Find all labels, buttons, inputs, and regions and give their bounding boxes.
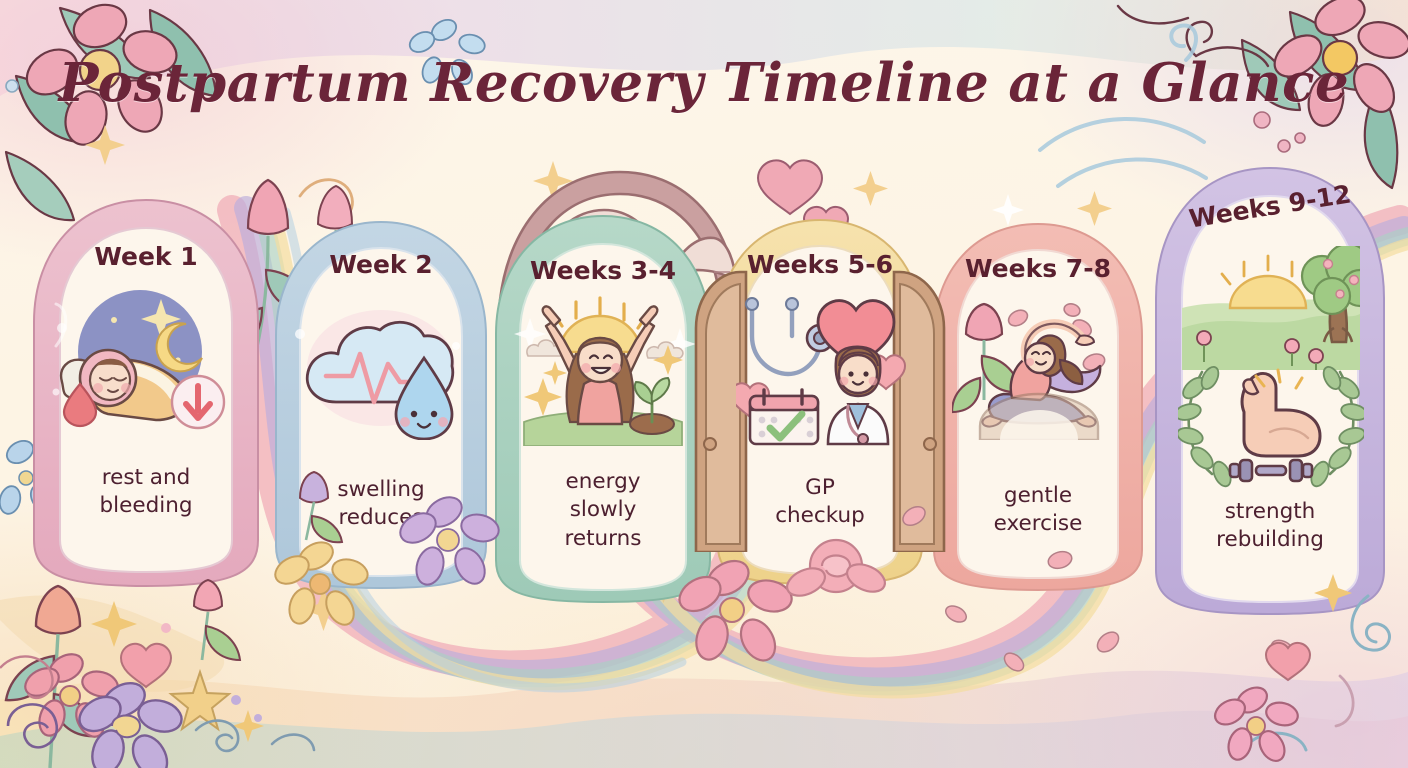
caption-week-2: swelling reduces bbox=[272, 476, 490, 533]
stage-week-1[interactable]: Week 1 bbox=[26, 196, 266, 588]
stage-weeks-3-4[interactable]: Weeks 3-4 bbox=[492, 212, 714, 604]
caption-week-1: rest and bleeding bbox=[26, 464, 266, 521]
week-label-7-8: Weeks 7-8 bbox=[930, 254, 1146, 283]
week-label-2: Week 2 bbox=[272, 250, 490, 279]
week-label-5-6: Weeks 5-6 bbox=[714, 250, 926, 279]
caption-weeks-7-8: gentle exercise bbox=[930, 482, 1146, 539]
page-title: Postpartum Recovery Timeline at a Glance bbox=[0, 52, 1408, 114]
doctor-icon bbox=[736, 292, 906, 446]
sleeping-baby-icon bbox=[52, 286, 242, 436]
week-label-3-4: Weeks 3-4 bbox=[492, 256, 714, 285]
week-label-1: Week 1 bbox=[26, 242, 266, 271]
stage-weeks-9-12[interactable]: Weeks 9-12 bbox=[1152, 162, 1388, 620]
stage-week-2[interactable]: Week 2 swelling reduces bbox=[272, 218, 490, 590]
stage-weeks-7-8[interactable]: Weeks 7-8 bbox=[930, 220, 1146, 592]
caption-weeks-5-6: GP checkup bbox=[714, 474, 926, 531]
infographic-poster: Week 1 bbox=[0, 0, 1408, 768]
cloud-icon bbox=[296, 310, 466, 440]
stage-weeks-5-6[interactable]: Weeks 5-6 bbox=[714, 216, 926, 588]
sunrise-icon bbox=[1182, 246, 1360, 370]
caption-weeks-9-12: strength rebuilding bbox=[1152, 498, 1388, 555]
yoga-pose-icon bbox=[952, 300, 1126, 440]
caption-weeks-3-4: energy slowly returns bbox=[492, 468, 714, 553]
flexed-arm-icon bbox=[1178, 354, 1364, 490]
timeline-stages: Week 1 bbox=[0, 0, 1408, 768]
woman-arms-raised-icon bbox=[522, 296, 684, 446]
